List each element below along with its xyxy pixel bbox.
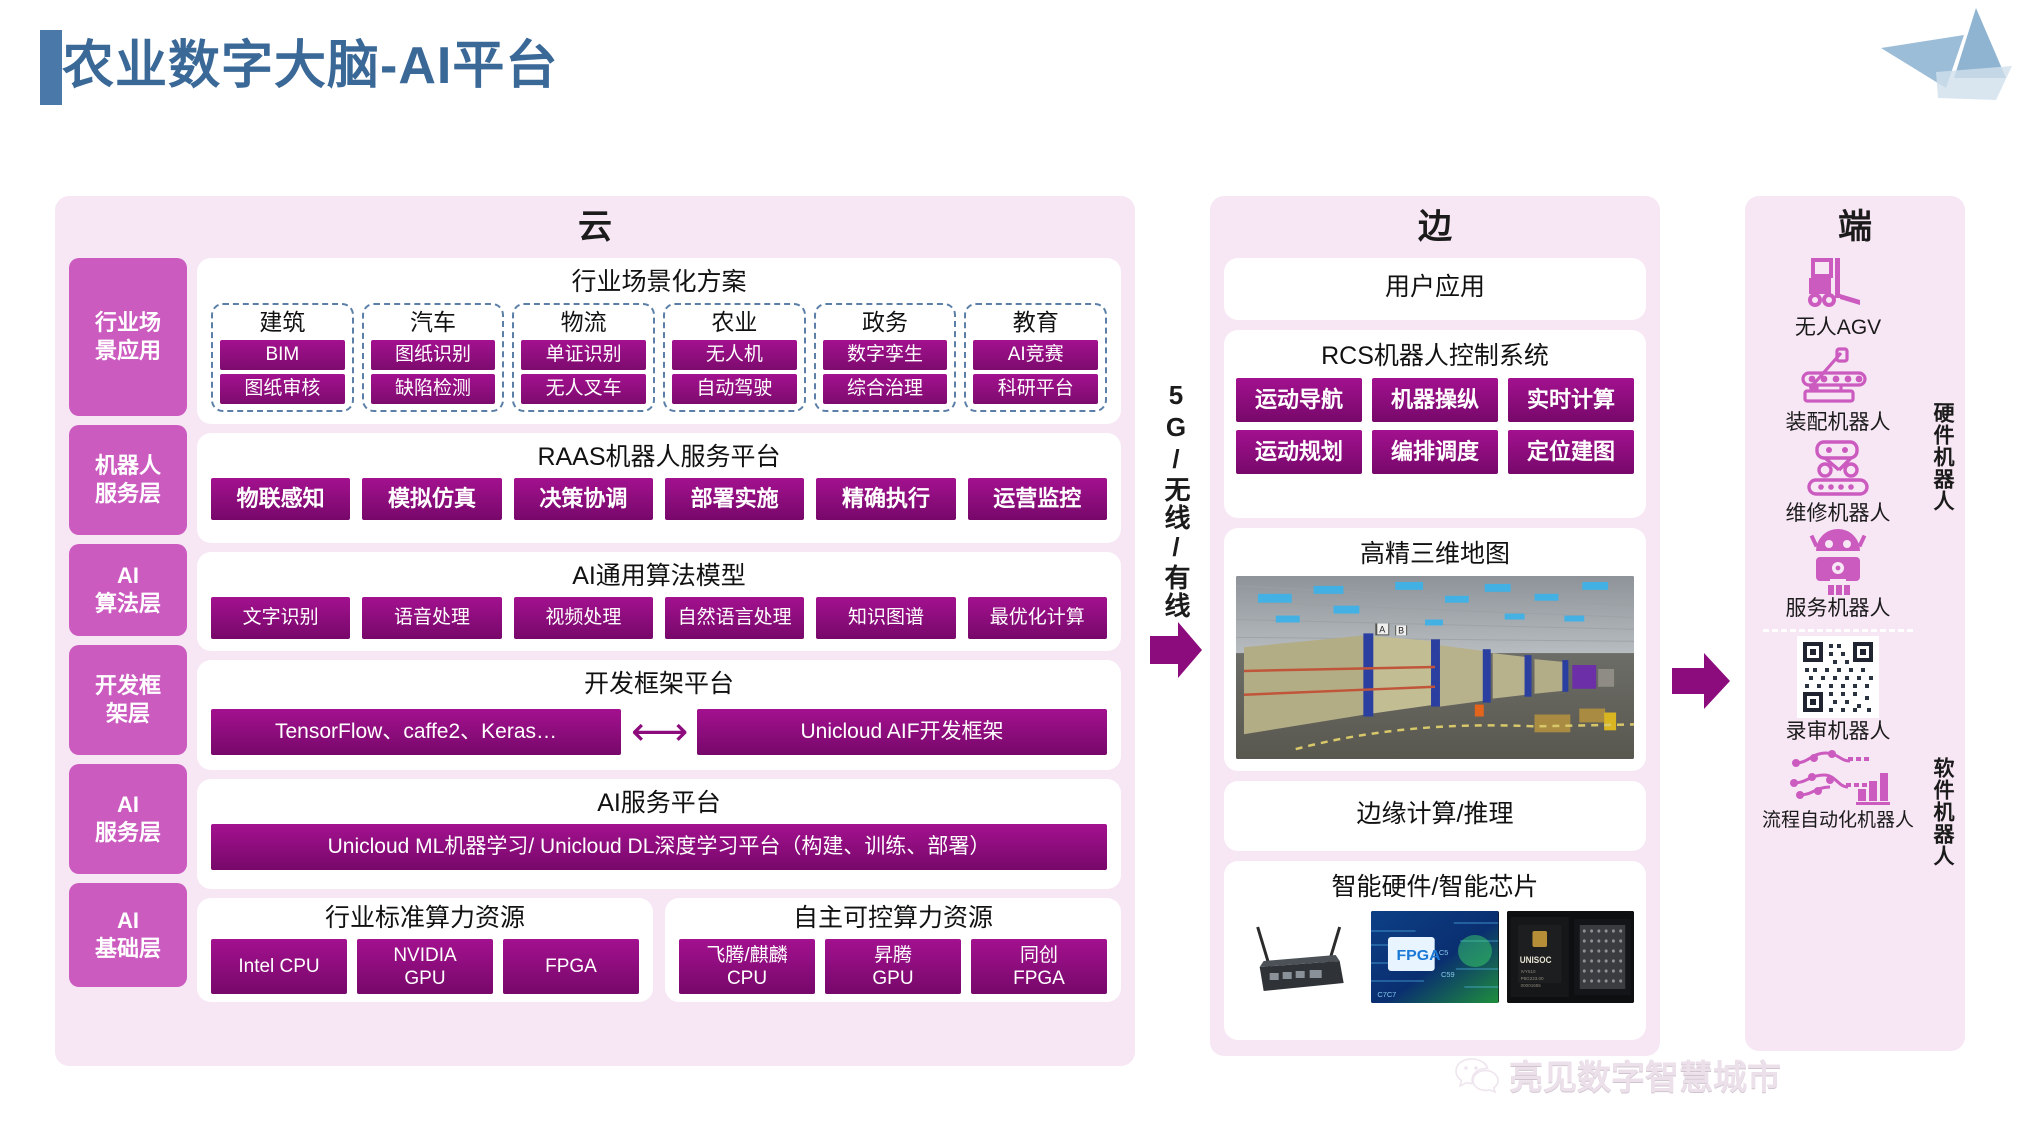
qr-code-icon [1797, 636, 1879, 718]
algorithm-panel-title: AI通用算法模型 [211, 560, 1107, 593]
end-item-label: 流程自动化机器人 [1762, 808, 1914, 834]
raas-chip[interactable]: 运营监控 [968, 478, 1107, 520]
cloud-panel-stack: 行业场景化方案 建筑 BIM 图纸审核 汽车 图纸识别 缺陷检测 [197, 258, 1121, 1046]
title-accent-bar [40, 30, 62, 105]
forklift-icon [1795, 252, 1881, 314]
rail-label-line2: 服务层 [95, 481, 161, 506]
industry-item[interactable]: 数字孪生 [823, 340, 948, 370]
industry-group-name: 政务 [823, 307, 948, 337]
framework-box-unicloud[interactable]: Unicloud AIF开发框架 [697, 709, 1107, 755]
svg-text:P8G223.00: P8G223.00 [1520, 976, 1543, 982]
rail-label-line2: 景应用 [95, 338, 161, 363]
end-item-list: 无人AGV [1751, 252, 1925, 1039]
watermark: 亮见数字智慧城市 [1455, 1050, 1781, 1099]
algorithm-chip[interactable]: 自然语言处理 [665, 597, 804, 639]
compute-chip[interactable]: 飞腾/麒麟 CPU [679, 939, 815, 994]
framework-row: TensorFlow、caffe2、Keras… ⟷ Unicloud AIF开… [211, 705, 1107, 758]
end-item-assembly-robot[interactable]: 装配机器人 [1786, 343, 1891, 438]
industry-group[interactable]: 物流 单证识别 无人叉车 [512, 303, 655, 412]
framework-panel: 开发框架平台 TensorFlow、caffe2、Keras… ⟷ Uniclo… [197, 660, 1121, 770]
rcs-row: 运动导航 机器操纵 实时计算 [1236, 378, 1634, 422]
compute-chip[interactable]: FPGA [503, 939, 639, 994]
raas-panel-title: RAAS机器人服务平台 [211, 441, 1107, 474]
industry-group[interactable]: 教育 AI竞赛 科研平台 [964, 303, 1107, 412]
compute-chip[interactable]: NVIDIA GPU [357, 939, 493, 994]
svg-text:C7C7: C7C7 [1378, 990, 1397, 999]
fpga-board-image: FPGA C5C59C7C7 [1371, 911, 1498, 1003]
raas-chip[interactable]: 部署实施 [665, 478, 804, 520]
end-side-labels: 硬件机器人 软件机器人 [1925, 252, 1959, 1039]
warehouse-3d-map-image: A B [1236, 576, 1634, 759]
end-item-maintenance-robot[interactable]: 维修机器人 [1786, 438, 1891, 529]
raas-panel: RAAS机器人服务平台 物联感知 模拟仿真 决策协调 部署实施 精确执行 运营监… [197, 433, 1121, 543]
raas-chip[interactable]: 决策协调 [514, 478, 653, 520]
end-item-label: 装配机器人 [1786, 410, 1891, 436]
rcs-chip[interactable]: 运动导航 [1236, 378, 1362, 422]
end-group-divider [1763, 629, 1913, 632]
hardware-image-row: FPGA C5C59C7C7 [1236, 911, 1634, 1003]
framework-panel-title: 开发框架平台 [211, 668, 1107, 701]
hardware-robot-side-label: 硬件机器人 [1929, 402, 1955, 512]
edge-compute-label: 边缘计算/推理 [1236, 796, 1634, 832]
compute-panels: 行业标准算力资源 Intel CPU NVIDIA GPU FPGA 自主可控算… [197, 898, 1121, 1002]
end-item-label: 服务机器人 [1786, 596, 1891, 622]
rail-label-line2: 算法层 [95, 591, 161, 616]
algorithm-chip-row: 文字识别 语音处理 视频处理 自然语言处理 知识图谱 最优化计算 [211, 597, 1107, 639]
raas-chip[interactable]: 模拟仿真 [362, 478, 501, 520]
algorithm-chip[interactable]: 知识图谱 [816, 597, 955, 639]
rcs-chip[interactable]: 机器操纵 [1372, 378, 1498, 422]
wechat-icon [1455, 1056, 1499, 1094]
layer-chip-ai-algorithm[interactable]: AI算法层 [69, 544, 187, 636]
rcs-chip[interactable]: 实时计算 [1508, 378, 1634, 422]
industry-group[interactable]: 政务 数字孪生 综合治理 [814, 303, 957, 412]
edge-gateway-device-image [1236, 911, 1363, 1003]
industry-item[interactable]: 单证识别 [521, 340, 646, 370]
rail-label-line2: 架层 [106, 701, 150, 726]
layer-chip-dev-framework[interactable]: 开发框架层 [69, 645, 187, 755]
end-item-service-robot[interactable]: 服务机器人 [1786, 529, 1891, 624]
end-item-label: 无人AGV [1795, 315, 1881, 341]
unisoc-chip-image: UNISOC IVY510P8G223.0000001655 [1507, 911, 1634, 1003]
algorithm-chip[interactable]: 语音处理 [362, 597, 501, 639]
industry-panel: 行业场景化方案 建筑 BIM 图纸审核 汽车 图纸识别 缺陷检测 [197, 258, 1121, 424]
assembly-arm-icon [1795, 343, 1881, 409]
industry-item[interactable]: 无人机 [672, 340, 797, 370]
industry-group-name: 建筑 [220, 307, 345, 337]
svg-text:A: A [1379, 624, 1385, 634]
compute-chip[interactable]: 同创 FPGA [971, 939, 1107, 994]
algorithm-chip[interactable]: 最优化计算 [968, 597, 1107, 639]
raas-chip[interactable]: 物联感知 [211, 478, 350, 520]
rcs-chip[interactable]: 编排调度 [1372, 430, 1498, 474]
industry-group-name: 汽车 [371, 307, 496, 337]
hd-map-panel: 高精三维地图 [1224, 528, 1646, 771]
svg-text:FPGA: FPGA [1397, 947, 1441, 963]
rail-label-line1: AI [117, 792, 139, 817]
compute-chip[interactable]: 昇腾 GPU [825, 939, 961, 994]
raas-chip-row: 物联感知 模拟仿真 决策协调 部署实施 精确执行 运营监控 [211, 478, 1107, 520]
rcs-row: 运动规划 编排调度 定位建图 [1236, 430, 1634, 474]
compute-panel-title: 自主可控算力资源 [679, 902, 1107, 935]
edge-heading: 边 [1210, 196, 1660, 254]
watermark-text: 亮见数字智慧城市 [1509, 1050, 1781, 1099]
rail-label-line1: AI [117, 563, 139, 588]
rail-label-line2: 服务层 [95, 820, 161, 845]
layer-chip-robot-service[interactable]: 机器人服务层 [69, 425, 187, 535]
end-item-agv[interactable]: 无人AGV [1795, 252, 1881, 343]
end-item-label: 录审机器人 [1786, 719, 1891, 745]
industry-item[interactable]: 自动驾驶 [672, 374, 797, 404]
user-app-label: 用户应用 [1236, 269, 1634, 305]
raas-chip[interactable]: 精确执行 [816, 478, 955, 520]
software-robot-side-label: 软件机器人 [1929, 757, 1955, 867]
industry-item[interactable]: 科研平台 [973, 374, 1098, 404]
layer-chip-ai-infrastructure[interactable]: AI基础层 [69, 883, 187, 987]
algorithm-chip[interactable]: 文字识别 [211, 597, 350, 639]
rcs-chip[interactable]: 运动规划 [1236, 430, 1362, 474]
industry-item[interactable]: 无人叉车 [521, 374, 646, 404]
industry-item[interactable]: 图纸识别 [371, 340, 496, 370]
rcs-panel: RCS机器人控制系统 运动导航 机器操纵 实时计算 运动规划 编排调度 定位建图 [1224, 330, 1646, 518]
svg-text:B: B [1398, 625, 1404, 635]
compute-chip-row: 飞腾/麒麟 CPU 昇腾 GPU 同创 FPGA [679, 939, 1107, 994]
industry-group-row: 建筑 BIM 图纸审核 汽车 图纸识别 缺陷检测 物流 单证识别 无人叉 [211, 303, 1107, 412]
rail-label-line1: 机器人 [95, 453, 161, 478]
service-robot-icon [1798, 529, 1878, 595]
layer-rail: 行业场景应用 机器人服务层 AI算法层 开发框架层 AI服务层 AI基础层 [69, 258, 187, 1046]
industry-group-name: 物流 [521, 307, 646, 337]
algorithm-panel: AI通用算法模型 文字识别 语音处理 视频处理 自然语言处理 知识图谱 最优化计… [197, 552, 1121, 651]
rail-label-line1: 开发框 [95, 673, 161, 698]
algorithm-chip[interactable]: 视频处理 [514, 597, 653, 639]
rail-label-line2: 基础层 [95, 936, 161, 961]
ai-service-panel: AI服务平台 Unicloud ML机器学习/ Unicloud DL深度学习平… [197, 779, 1121, 889]
industry-group-name: 教育 [973, 307, 1098, 337]
page-title: 农业数字大脑-AI平台 [62, 28, 558, 104]
end-item-rpa[interactable]: 流程自动化机器人 [1762, 747, 1914, 836]
rail-label-line1: 行业场 [95, 310, 161, 335]
industry-group[interactable]: 农业 无人机 自动驾驶 [663, 303, 806, 412]
industry-item[interactable]: 缺陷检测 [371, 374, 496, 404]
svg-text:C59: C59 [1441, 970, 1455, 979]
compute-chip-row: Intel CPU NVIDIA GPU FPGA [211, 939, 639, 994]
slide-root: 农业数字大脑-AI平台 云 行业场景应用 机器人服务层 AI算法层 开发框架层 [0, 0, 2026, 1140]
industry-group[interactable]: 汽车 图纸识别 缺陷检测 [362, 303, 505, 412]
end-heading: 端 [1745, 196, 1965, 254]
rcs-panel-title: RCS机器人控制系统 [1236, 338, 1634, 374]
arrow-edge-to-end-icon [1672, 650, 1730, 712]
network-link-column: 5G/无线/有线 [1148, 380, 1204, 710]
network-link-label: 5G/无线/有线 [1161, 380, 1191, 620]
framework-box-opensource[interactable]: TensorFlow、caffe2、Keras… [211, 709, 621, 755]
hd-map-title: 高精三维地图 [1236, 536, 1634, 572]
svg-text:00001655: 00001655 [1520, 983, 1541, 989]
ai-service-bar[interactable]: Unicloud ML机器学习/ Unicloud DL深度学习平台（构建、训练… [211, 824, 1107, 870]
svg-text:UNISOC: UNISOC [1519, 955, 1551, 965]
cloud-column: 云 行业场景应用 机器人服务层 AI算法层 开发框架层 AI服务层 [55, 196, 1135, 1066]
user-app-panel[interactable]: 用户应用 [1224, 258, 1646, 320]
edge-column: 边 用户应用 RCS机器人控制系统 运动导航 机器操纵 实时计算 运动规划 编排… [1210, 196, 1660, 1056]
svg-text:IVY510: IVY510 [1520, 969, 1535, 975]
ai-service-panel-title: AI服务平台 [211, 787, 1107, 820]
smart-hardware-title: 智能硬件/智能芯片 [1236, 869, 1634, 905]
industry-panel-title: 行业场景化方案 [211, 266, 1107, 299]
svg-text:C5: C5 [1439, 948, 1448, 957]
compute-panel-standard: 行业标准算力资源 Intel CPU NVIDIA GPU FPGA [197, 898, 653, 1002]
industry-item[interactable]: AI竞赛 [973, 340, 1098, 370]
industry-group-name: 农业 [672, 307, 797, 337]
decorative-triangles-icon [1866, 0, 2026, 120]
compute-chip[interactable]: Intel CPU [211, 939, 347, 994]
arrow-cloud-to-edge-icon [1150, 620, 1202, 680]
industry-item[interactable]: 综合治理 [823, 374, 948, 404]
rcs-grid: 运动导航 机器操纵 实时计算 运动规划 编排调度 定位建图 [1236, 378, 1634, 474]
edge-compute-panel[interactable]: 边缘计算/推理 [1224, 781, 1646, 851]
end-item-audit-robot[interactable]: 录审机器人 [1786, 636, 1891, 747]
end-item-label: 维修机器人 [1786, 501, 1891, 527]
tracked-robot-icon [1795, 438, 1881, 500]
compute-panel-title: 行业标准算力资源 [211, 902, 639, 935]
industry-item[interactable]: BIM [220, 340, 345, 370]
industry-item[interactable]: 图纸审核 [220, 374, 345, 404]
industry-group[interactable]: 建筑 BIM 图纸审核 [211, 303, 354, 412]
end-column: 端 [1745, 196, 1965, 1051]
rail-label-line1: AI [117, 908, 139, 933]
rcs-chip[interactable]: 定位建图 [1508, 430, 1634, 474]
layer-chip-ai-service[interactable]: AI服务层 [69, 764, 187, 874]
compute-panel-domestic: 自主可控算力资源 飞腾/麒麟 CPU 昇腾 GPU 同创 FPGA [665, 898, 1121, 1002]
smart-hardware-panel: 智能硬件/智能芯片 [1224, 861, 1646, 1040]
double-arrow-icon: ⟷ [631, 712, 687, 752]
process-automation-icon [1786, 747, 1890, 807]
layer-chip-industry[interactable]: 行业场景应用 [69, 258, 187, 416]
cloud-heading: 云 [55, 196, 1135, 254]
